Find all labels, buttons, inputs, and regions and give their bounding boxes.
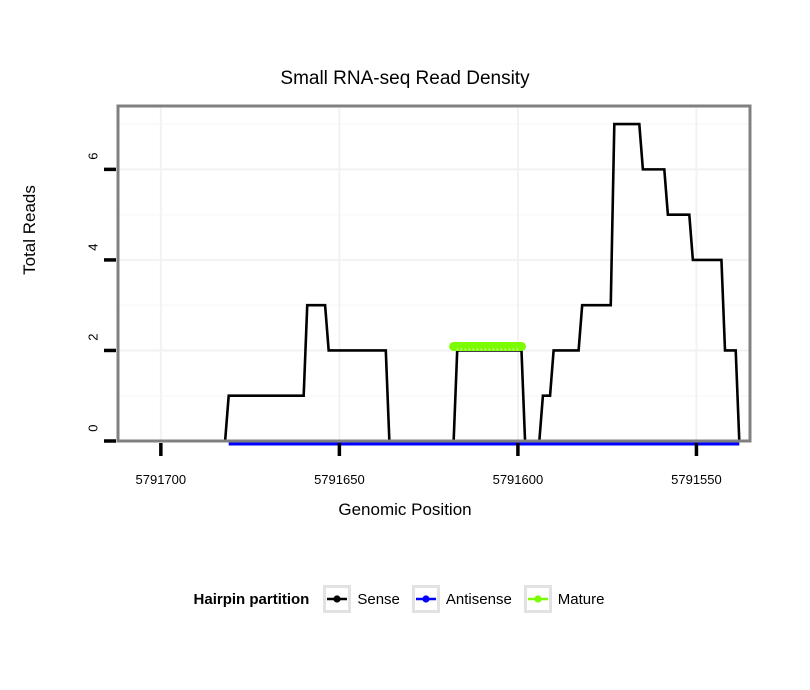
legend-label: Mature	[558, 591, 605, 608]
chart-figure: Small RNA-seq Read Density Total Reads G…	[0, 0, 810, 690]
y-tick-label: 6	[86, 153, 101, 183]
legend: Hairpin partition SenseAntisenseMature	[0, 582, 810, 616]
y-tick-label: 0	[86, 425, 101, 455]
legend-key-icon	[323, 585, 351, 613]
y-tick-label: 4	[86, 243, 101, 273]
legend-entry-antisense[interactable]: Antisense	[412, 585, 512, 613]
legend-key-icon	[412, 585, 440, 613]
x-tick-label: 5791700	[116, 472, 206, 487]
legend-label: Antisense	[446, 591, 512, 608]
x-tick-label: 5791550	[651, 472, 741, 487]
legend-entry-sense[interactable]: Sense	[323, 585, 400, 613]
y-tick-label: 2	[86, 334, 101, 364]
x-tick-label: 5791600	[473, 472, 563, 487]
legend-entry-mature[interactable]: Mature	[524, 585, 605, 613]
legend-label: Sense	[357, 591, 400, 608]
x-tick-label: 5791650	[294, 472, 384, 487]
legend-key-icon	[524, 585, 552, 613]
panel-background	[118, 106, 750, 441]
legend-title: Hairpin partition	[194, 591, 310, 608]
